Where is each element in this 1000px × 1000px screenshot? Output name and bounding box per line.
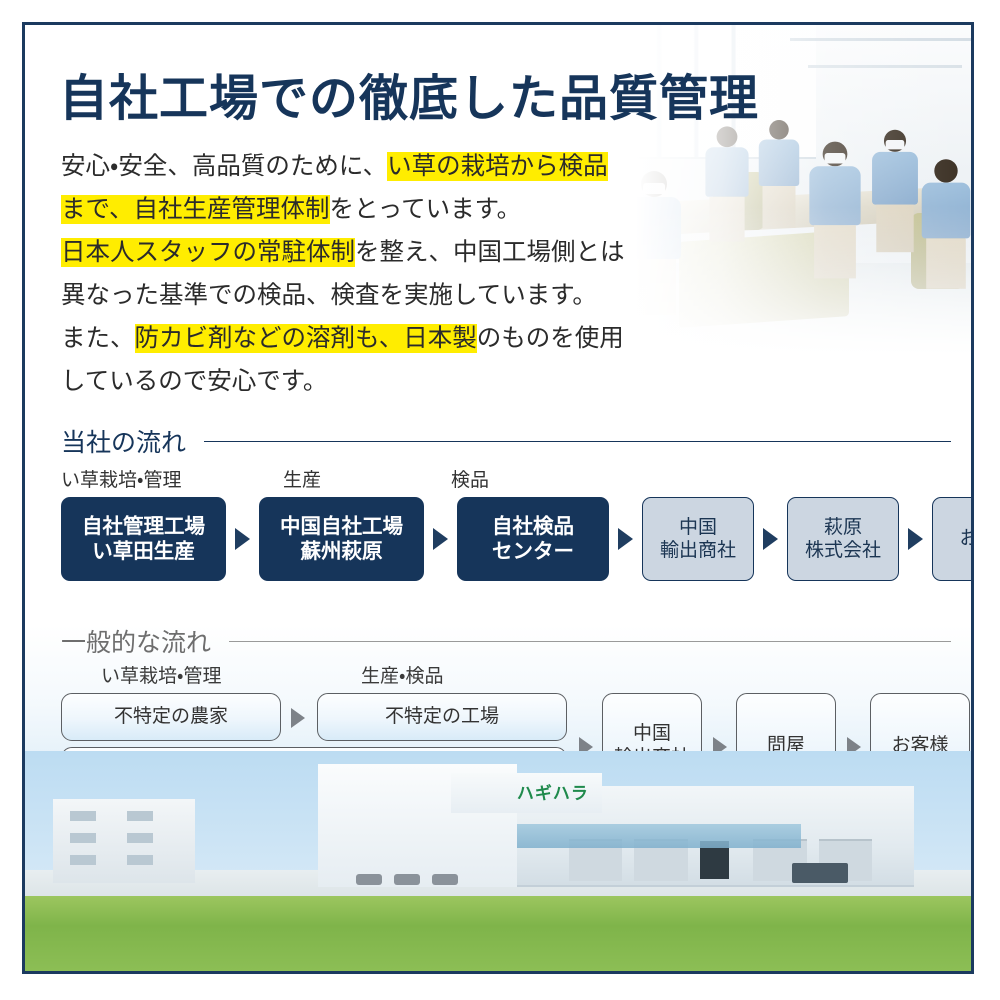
box-line-1: 中国自社工場 xyxy=(280,515,403,538)
company-sign: ハギハラ xyxy=(517,779,589,804)
paragraph-line-3: 日本人スタッフの常駐体制を整え、中国工場側とは xyxy=(61,231,681,274)
intro-paragraph: 安心・安全、高品質のために、い草の栽培から検品 まで、自社生産管理体制をとってい… xyxy=(61,145,681,403)
flow-caption: 検品 xyxy=(451,465,489,492)
section-rule xyxy=(204,441,951,442)
flow-caption: い草栽培・管理 xyxy=(61,465,181,492)
arrow-icon xyxy=(291,708,305,728)
paragraph-text: のものを使用 xyxy=(477,325,624,352)
flow-box-inspection-center: 自社検品センター xyxy=(457,497,609,581)
paragraph-line-2: まで、自社生産管理体制をとっています。 xyxy=(61,188,681,231)
adjacent-building xyxy=(53,799,195,883)
section-title: 当社の流れ xyxy=(61,423,186,459)
car xyxy=(356,874,382,885)
flow-box-own-factory: 自社管理工場い草田生産 xyxy=(61,497,226,581)
car xyxy=(432,874,458,885)
section-header-general: 一般的な流れ xyxy=(61,623,951,659)
flow-caption: 生産 xyxy=(283,465,321,492)
box-line-2: 蘇州萩原 xyxy=(301,540,383,563)
section-header-ours: 当社の流れ xyxy=(61,423,951,459)
paragraph-line-5: また、防カビ剤などの溶剤も、日本製のものを使用 xyxy=(61,317,681,360)
arrow-icon xyxy=(763,528,778,550)
highlight-text: まで、自社生産管理体制 xyxy=(61,195,330,224)
flow-box-unspecified-factory-top: 不特定の工場 xyxy=(317,693,567,741)
content-frame: 自社工場での徹底した品質管理 安心・安全、高品質のために、い草の栽培から検品 ま… xyxy=(22,22,974,974)
box-line-2: 株式会社 xyxy=(805,540,881,561)
box-line-1: 萩原 xyxy=(824,517,862,538)
highlight-text: い草の栽培から検品 xyxy=(387,152,608,181)
flow-caption: 生産・検品 xyxy=(361,661,443,688)
section-title: 一般的な流れ xyxy=(61,623,211,659)
flow-box-hagihara: 萩原株式会社 xyxy=(787,497,899,581)
infographic-page: 自社工場での徹底した品質管理 安心・安全、高品質のために、い草の栽培から検品 ま… xyxy=(0,0,1000,1000)
paragraph-text: 安心・安全、高品質のために、 xyxy=(61,153,387,180)
truck xyxy=(792,863,848,883)
box-line-1: 自社管理工場 xyxy=(82,515,205,538)
glass-facade xyxy=(517,824,801,848)
box-line-2: 輸出商社 xyxy=(660,540,736,561)
box-line-1: お客様 xyxy=(959,528,974,549)
box-line-1: 中国 xyxy=(633,723,671,744)
arrow-icon xyxy=(908,528,923,550)
section-rule xyxy=(229,641,951,642)
paragraph-line-6: しているので安心です。 xyxy=(61,360,681,403)
flow-box-china-factory: 中国自社工場蘇州萩原 xyxy=(259,497,424,581)
box-line-2: センター xyxy=(492,540,574,563)
highlight-text: 日本人スタッフの常駐体制 xyxy=(61,238,355,267)
paragraph-line-4: 異なった基準での検品、検査を実施しています。 xyxy=(61,274,681,317)
arrow-icon xyxy=(235,528,250,550)
flow-caption: い草栽培・管理 xyxy=(101,661,221,688)
flow-diagram-ours: い草栽培・管理 生産 検品 自社管理工場い草田生産 中国自社工場蘇州萩原 自社検… xyxy=(61,465,951,585)
grass-field xyxy=(25,896,971,971)
highlight-text: 防カビ剤などの溶剤も、日本製 xyxy=(135,324,477,353)
flow-box-china-exporter: 中国輸出商社 xyxy=(642,497,754,581)
box-line-1: 中国 xyxy=(679,517,717,538)
paragraph-text: をとっています。 xyxy=(330,196,522,223)
box-line-2: い草田生産 xyxy=(92,540,195,563)
page-title: 自社工場での徹底した品質管理 xyxy=(59,59,759,130)
car xyxy=(394,874,420,885)
paragraph-line-1: 安心・安全、高品質のために、い草の栽培から検品 xyxy=(61,145,681,188)
paragraph-text: を整え、中国工場側とは xyxy=(355,239,625,266)
arrow-icon xyxy=(618,528,633,550)
flow-box-customer: お客様 xyxy=(932,497,974,581)
arrow-icon xyxy=(433,528,448,550)
paragraph-text: また、 xyxy=(61,325,135,352)
flow-box-unspecified-farm: 不特定の農家 xyxy=(61,693,281,741)
factory-building-photo: ハギハラ xyxy=(25,751,971,971)
box-line-1: 自社検品 xyxy=(492,515,574,538)
